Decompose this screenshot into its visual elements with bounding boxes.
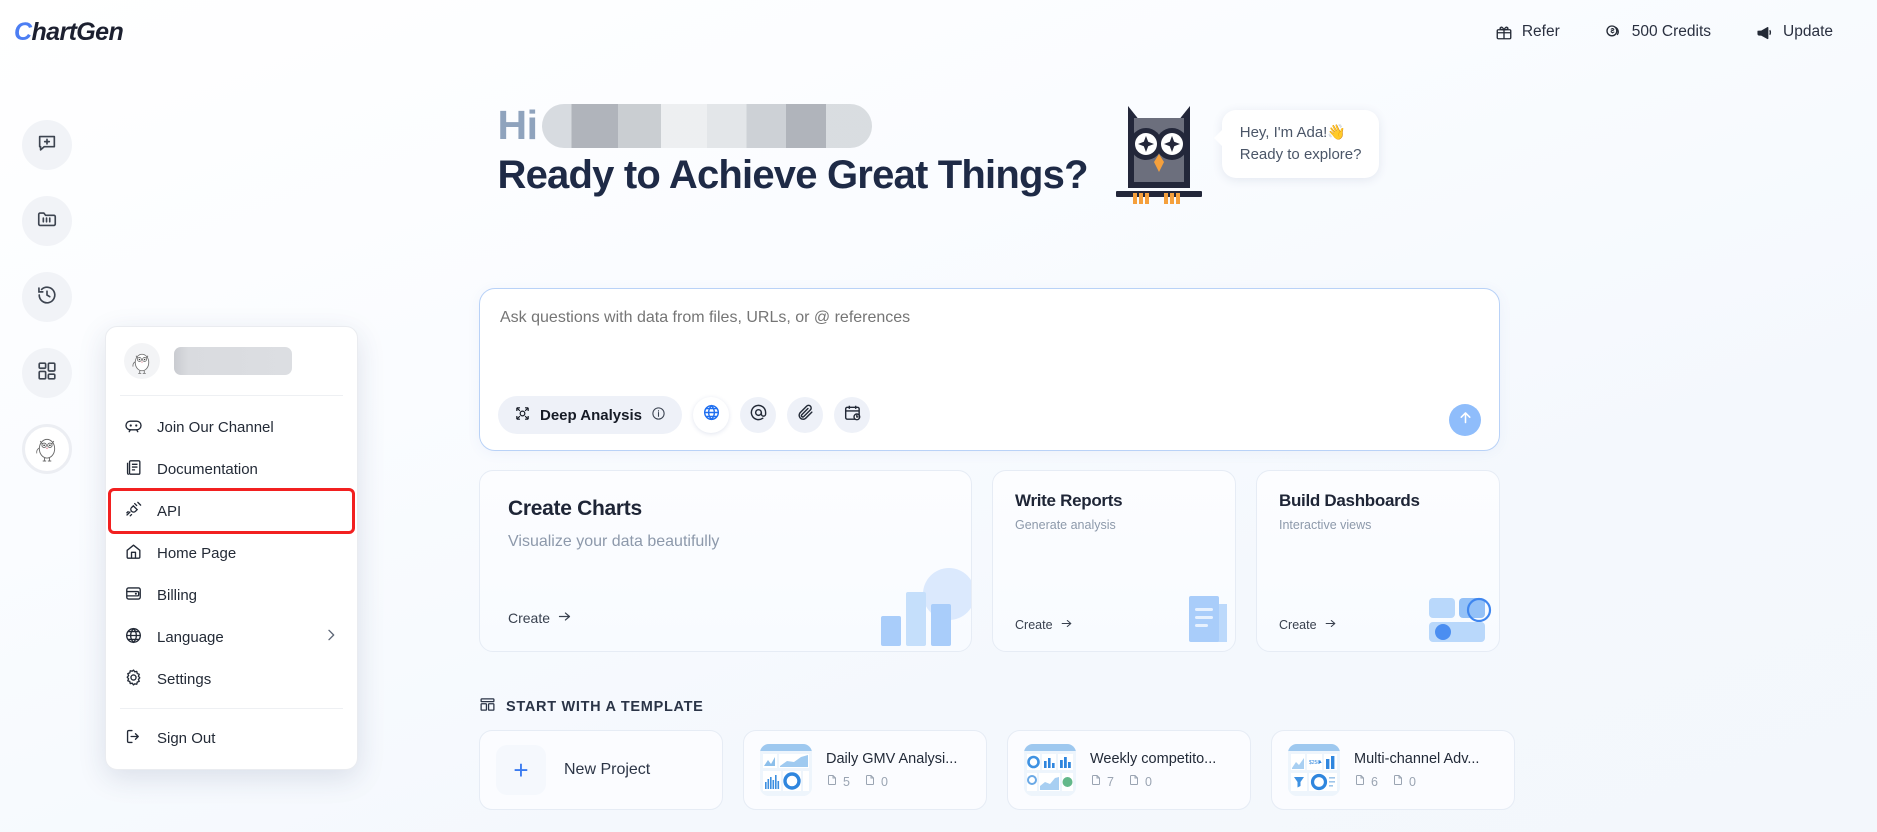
menu-item-label: API	[157, 503, 181, 520]
dashboard-deco-icon	[1415, 576, 1499, 651]
card-title: Write Reports	[1015, 491, 1213, 511]
card-subtitle: Visualize your data beautifully	[508, 533, 943, 551]
gear-icon	[124, 668, 143, 691]
feature-cards: Create Charts Visualize your data beauti…	[479, 470, 1500, 652]
docs-count-value: 6	[1371, 775, 1378, 789]
send-icon	[1457, 409, 1474, 431]
plus-icon: +	[496, 745, 546, 795]
card-cta[interactable]: Create	[1015, 617, 1073, 633]
left-rail	[22, 120, 72, 474]
files-count-value: 0	[1145, 775, 1152, 789]
file-icon	[826, 774, 838, 789]
web-search-button[interactable]	[693, 397, 729, 433]
template-counts: 5 0	[826, 774, 957, 789]
api-plug-icon	[124, 500, 143, 523]
greeting-text: Hi	[498, 102, 538, 149]
file-icon	[1090, 774, 1102, 789]
file-icon	[864, 774, 876, 789]
templates-heading: START WITH A TEMPLATE	[479, 696, 704, 717]
file-icon	[1128, 774, 1140, 789]
template-name: Weekly competito...	[1090, 751, 1216, 767]
attachment-icon	[796, 403, 815, 427]
bubble-line-1: Hey, I'm Ada!👋	[1240, 122, 1362, 144]
chevron-right-icon	[323, 627, 339, 647]
files-count-value: 0	[1409, 775, 1416, 789]
attachment-button[interactable]	[787, 397, 823, 433]
template-name: Multi-channel Adv...	[1354, 751, 1479, 767]
menu-items: Join Our Channel Documentation API	[106, 396, 357, 708]
bar-chart-deco-icon	[841, 564, 971, 651]
wallet-icon	[124, 584, 143, 607]
template-card[interactable]: $258 Multi-channel Adv... 6	[1271, 730, 1515, 810]
user-dropdown-menu: Join Our Channel Documentation API	[105, 326, 358, 770]
menu-item-api[interactable]: API	[110, 490, 353, 532]
new-chat-icon	[36, 132, 58, 159]
card-cta[interactable]: Create	[1279, 617, 1337, 633]
logo-initial: C	[14, 18, 31, 46]
menu-item-documentation[interactable]: Documentation	[106, 448, 357, 490]
account-avatar[interactable]	[22, 424, 72, 474]
bubble-line-2: Ready to explore?	[1240, 144, 1362, 166]
refer-label: Refer	[1522, 23, 1560, 41]
card-cta-label: Create	[508, 610, 550, 626]
deep-analysis-toggle[interactable]: Deep Analysis	[498, 396, 682, 434]
menu-item-label: Settings	[157, 671, 211, 688]
new-chat-button[interactable]	[22, 120, 72, 170]
menu-item-label: Billing	[157, 587, 197, 604]
prompt-composer[interactable]: Deep Analysis	[479, 288, 1500, 451]
info-icon[interactable]	[651, 406, 666, 425]
hero-section: Hi Ready to Achieve Great Things?	[0, 92, 1877, 213]
card-title: Build Dashboards	[1279, 491, 1477, 511]
templates-heading-label: START WITH A TEMPLATE	[506, 699, 704, 715]
composer-toolbar: Deep Analysis	[498, 396, 870, 434]
megaphone-icon	[1755, 23, 1774, 42]
mascot-area: Hey, I'm Ada!👋 Ready to explore?	[1110, 92, 1380, 213]
deep-analysis-label: Deep Analysis	[540, 407, 642, 424]
arrow-right-icon	[1324, 617, 1337, 633]
templates-row: + New Project Daily GMV Analysi...	[479, 730, 1515, 810]
credits-button[interactable]: 500 Credits	[1604, 23, 1711, 42]
send-button[interactable]	[1449, 404, 1481, 436]
template-card[interactable]: Daily GMV Analysi... 5 0	[743, 730, 987, 810]
owl-avatar-icon	[30, 430, 64, 469]
history-icon	[36, 284, 58, 311]
mascot-speech-bubble: Hey, I'm Ada!👋 Ready to explore?	[1222, 110, 1380, 178]
greeting-row: Hi	[498, 102, 1088, 149]
card-subtitle: Generate analysis	[1015, 518, 1213, 532]
template-docs-count: 6	[1354, 774, 1378, 789]
docs-count-value: 5	[843, 775, 850, 789]
coins-icon	[1604, 23, 1623, 42]
menu-footer: Sign Out	[106, 709, 357, 769]
template-meta: Daily GMV Analysi... 5 0	[826, 751, 957, 789]
projects-button[interactable]	[22, 196, 72, 246]
menu-item-label: Join Our Channel	[157, 419, 274, 436]
history-button[interactable]	[22, 272, 72, 322]
header-actions: Refer 500 Credits Update	[1495, 23, 1833, 42]
update-button[interactable]: Update	[1755, 23, 1833, 42]
app-logo[interactable]: ChartGen	[14, 18, 123, 47]
app-header: ChartGen Refer 500 Credits	[0, 0, 1877, 64]
docs-icon	[124, 458, 143, 481]
document-deco-icon	[1153, 574, 1235, 651]
globe-icon	[702, 403, 721, 427]
file-icon	[1354, 774, 1366, 789]
template-meta: Weekly competito... 7 0	[1090, 751, 1216, 789]
card-subtitle: Interactive views	[1279, 518, 1477, 532]
schedule-icon	[843, 403, 862, 427]
template-counts: 6 0	[1354, 774, 1479, 789]
menu-item-join-our-channel[interactable]: Join Our Channel	[106, 406, 357, 448]
template-thumbnail	[760, 744, 812, 796]
owl-mascot-icon	[1110, 96, 1208, 213]
template-counts: 7 0	[1090, 774, 1216, 789]
sign-out-icon	[124, 727, 143, 750]
template-card[interactable]: Weekly competito... 7 0	[1007, 730, 1251, 810]
menu-item-language[interactable]: Language	[106, 616, 357, 658]
at-mention-icon	[749, 403, 768, 427]
menu-item-settings[interactable]: Settings	[106, 658, 357, 700]
globe-icon	[124, 626, 143, 649]
card-cta[interactable]: Create	[508, 609, 572, 627]
menu-item-billing[interactable]: Billing	[106, 574, 357, 616]
card-create-charts[interactable]: Create Charts Visualize your data beauti…	[479, 470, 972, 652]
menu-avatar	[124, 343, 160, 379]
menu-user-header[interactable]	[106, 327, 357, 395]
card-cta-label: Create	[1015, 618, 1053, 632]
template-meta: Multi-channel Adv... 6 0	[1354, 751, 1479, 789]
template-grid-icon	[479, 696, 496, 717]
menu-item-label: Home Page	[157, 545, 236, 562]
menu-item-sign-out[interactable]: Sign Out	[106, 717, 357, 759]
template-name: Daily GMV Analysi...	[826, 751, 957, 767]
apps-button[interactable]	[22, 348, 72, 398]
card-build-dashboards[interactable]: Build Dashboards Interactive views Creat…	[1256, 470, 1500, 652]
menu-item-label: Language	[157, 629, 224, 646]
atom-icon	[514, 405, 531, 426]
page-title: Ready to Achieve Great Things?	[498, 153, 1088, 198]
menu-username-redacted	[174, 347, 292, 375]
hero-text: Hi Ready to Achieve Great Things?	[498, 92, 1088, 198]
folder-icon	[36, 208, 58, 235]
mention-button[interactable]	[740, 397, 776, 433]
prompt-input[interactable]	[500, 309, 1479, 327]
template-files-count: 0	[1128, 774, 1152, 789]
gift-icon	[1495, 23, 1513, 41]
template-docs-count: 7	[1090, 774, 1114, 789]
card-cta-label: Create	[1279, 618, 1317, 632]
menu-item-label: Documentation	[157, 461, 258, 478]
template-files-count: 0	[1392, 774, 1416, 789]
card-write-reports[interactable]: Write Reports Generate analysis Create	[992, 470, 1236, 652]
docs-count-value: 7	[1107, 775, 1114, 789]
update-label: Update	[1783, 23, 1833, 41]
arrow-right-icon	[1060, 617, 1073, 633]
new-project-card[interactable]: + New Project	[479, 730, 723, 810]
menu-item-home-page[interactable]: Home Page	[106, 532, 357, 574]
template-files-count: 0	[864, 774, 888, 789]
discord-icon	[124, 416, 143, 439]
home-icon	[124, 542, 143, 565]
template-docs-count: 5	[826, 774, 850, 789]
template-thumbnail: $258	[1288, 744, 1340, 796]
refer-button[interactable]: Refer	[1495, 23, 1560, 41]
menu-item-label: Sign Out	[157, 730, 215, 747]
new-project-label: New Project	[564, 761, 650, 779]
schedule-button[interactable]	[834, 397, 870, 433]
files-count-value: 0	[881, 775, 888, 789]
credits-label: 500 Credits	[1632, 23, 1711, 41]
file-icon	[1392, 774, 1404, 789]
logo-text: hartGen	[31, 18, 123, 46]
username-redacted	[542, 104, 872, 148]
apps-grid-icon	[36, 360, 58, 387]
arrow-right-icon	[557, 609, 572, 627]
card-title: Create Charts	[508, 497, 943, 521]
template-thumbnail	[1024, 744, 1076, 796]
